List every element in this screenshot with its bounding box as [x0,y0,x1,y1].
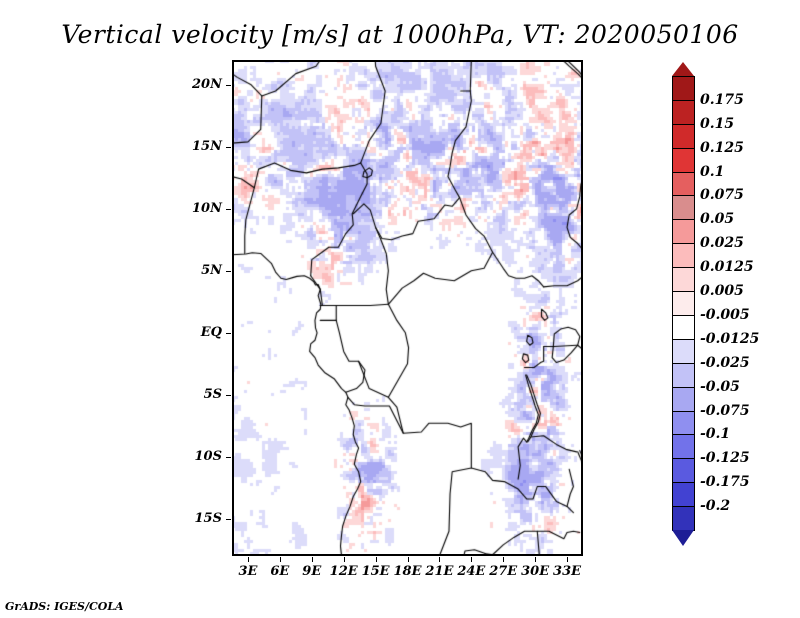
colorbar-band [672,387,695,412]
colorbar-band [672,195,695,220]
colorbar-min-arrow [672,530,694,546]
colorbar-label: -0.2 [700,498,730,514]
colorbar-label: -0.05 [700,379,740,395]
lat-label: 10S [0,449,222,464]
colorbar-band [672,76,695,101]
lon-tick [312,557,313,562]
lon-label: 24E [455,564,487,579]
lat-label: 5S [0,387,222,402]
colorbar-label: 0.05 [700,211,734,227]
colorbar-label: -0.1 [700,426,730,442]
lat-tick [226,395,231,396]
lat-tick [226,271,231,272]
grads-attribution: GrADS: IGES/COLA [5,600,124,613]
colorbar-label: 0.125 [700,140,744,156]
colorbar-label: -0.0125 [700,331,759,347]
lat-label: 15N [0,139,222,154]
colorbar-label: 0.1 [700,164,724,180]
colorbar-band [672,506,695,531]
colorbar-band [672,172,695,197]
colorbar-band [672,291,695,316]
map-plot-area [232,60,583,556]
lon-label: 9E [296,564,328,579]
colorbar-band [672,363,695,388]
lat-label: 20N [0,77,222,92]
lon-label: 12E [328,564,360,579]
colorbar-label: 0.075 [700,187,744,203]
lat-tick [226,147,231,148]
lon-tick [344,557,345,562]
lon-label: 30E [519,564,551,579]
colorbar-band [672,315,695,340]
lat-label: EQ [0,325,222,340]
lon-tick [503,557,504,562]
colorbar-band [672,148,695,173]
lat-label: 10N [0,201,222,216]
lat-tick [226,209,231,210]
lon-label: 3E [232,564,264,579]
colorbar-band [672,339,695,364]
colorbar-band [672,219,695,244]
colorbar-label: -0.175 [700,474,750,490]
colorbar-label: 0.175 [700,92,744,108]
lon-label: 15E [360,564,392,579]
lat-tick [226,333,231,334]
lon-label: 18E [392,564,424,579]
colorbar-max-arrow [672,62,694,76]
colorbar-band [672,411,695,436]
colorbar-band [672,243,695,268]
colorbar-band [672,482,695,507]
lon-tick [408,557,409,562]
page-title: Vertical velocity [m/s] at 1000hPa, VT: … [0,20,800,49]
colorbar-band [672,434,695,459]
colorbar-label: -0.125 [700,450,750,466]
colorbar-label: -0.005 [700,307,750,323]
lon-tick [376,557,377,562]
lon-tick [439,557,440,562]
lon-tick [535,557,536,562]
lon-label: 33E [551,564,583,579]
lat-tick [226,85,231,86]
lon-tick [280,557,281,562]
colorbar-label: 0.15 [700,116,734,132]
lon-tick [567,557,568,562]
lon-tick [248,557,249,562]
colorbar: 0.1750.150.1250.10.0750.050.0250.01250.0… [672,62,695,546]
lat-label: 5N [0,263,222,278]
lat-tick [226,457,231,458]
lon-label: 27E [487,564,519,579]
map-frame [232,60,583,556]
colorbar-band [672,458,695,483]
lat-tick [226,519,231,520]
colorbar-label: 0.025 [700,235,744,251]
colorbar-label: -0.075 [700,403,750,419]
colorbar-label: -0.025 [700,355,750,371]
colorbar-band [672,100,695,125]
colorbar-band [672,124,695,149]
colorbar-band [672,267,695,292]
lat-label: 15S [0,511,222,526]
colorbar-label: 0.005 [700,283,744,299]
lon-label: 6E [264,564,296,579]
colorbar-label: 0.0125 [700,259,754,275]
lon-label: 21E [423,564,455,579]
lon-tick [471,557,472,562]
